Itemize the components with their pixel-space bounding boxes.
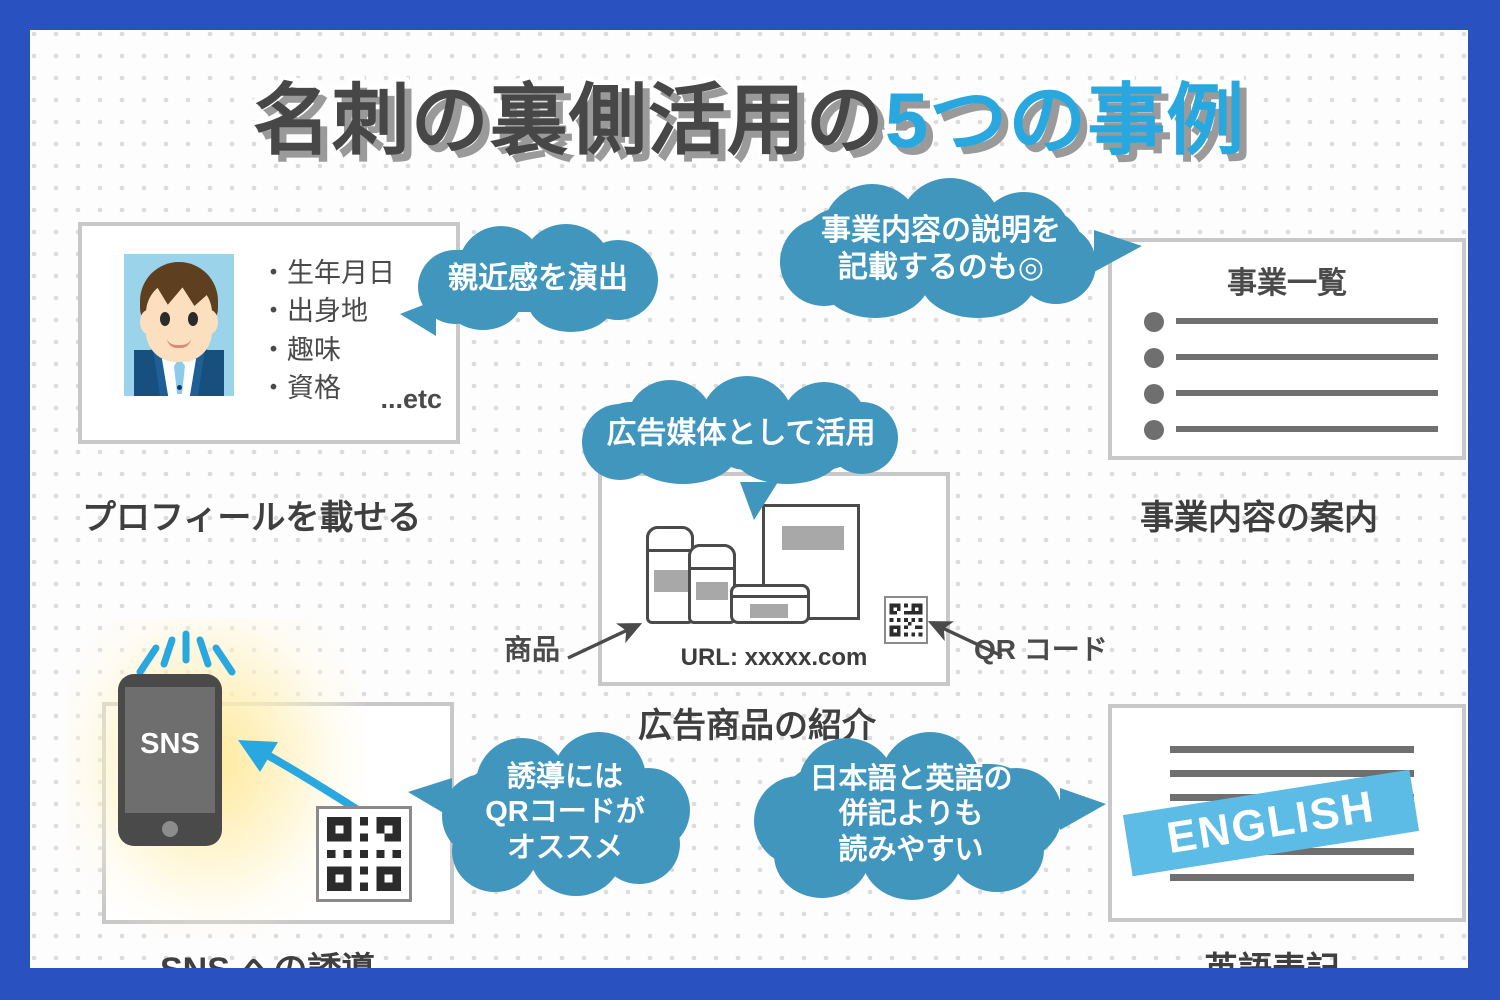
list-item: 生年月日 <box>260 254 395 292</box>
bullet-dot-icon <box>1144 384 1164 404</box>
phone-sns-label: SNS <box>118 728 222 761</box>
bubble-english-line: 併記よりも <box>839 797 983 832</box>
bubble-english-line: 読みやすい <box>838 833 983 868</box>
page-title-dark: 名刺の裏側活用の <box>253 76 885 164</box>
infographic-canvas: 名刺の裏側活用の5つの事例 生年月日 出身 <box>30 30 1468 968</box>
list-item: 出身地 <box>260 292 395 330</box>
bubble-sns: 誘導には QRコードが オススメ <box>434 730 696 896</box>
bubble-business-line: 事業内容の説明を <box>821 213 1061 250</box>
card-label-sns: SNS への誘導 <box>160 942 375 968</box>
card-label-profile: プロフィールを載せる <box>82 490 421 539</box>
bubble-profile: 親近感を演出 <box>416 224 660 334</box>
bubble-sns-line: オススメ <box>507 831 623 866</box>
bubble-english-line: 日本語と英語の <box>809 762 1012 797</box>
smartphone-icon: SNS <box>118 674 222 846</box>
outer-blue-frame: 名刺の裏側活用の5つの事例 生年月日 出身 <box>0 0 1500 1000</box>
card-label-business: 事業内容の案内 <box>1140 490 1378 539</box>
bubble-business: 事業内容の説明を 記載するのも◎ <box>780 178 1102 322</box>
business-list-heading: 事業一覧 <box>1112 258 1462 302</box>
bubble-sns-line: 誘導には <box>507 760 623 795</box>
bubble-ad-line: 広告媒体として活用 <box>606 416 875 453</box>
bullet-dot-icon <box>1144 348 1164 368</box>
bullet-dot-icon <box>1144 420 1164 440</box>
page-title: 名刺の裏側活用の5つの事例 <box>30 58 1468 170</box>
bubble-business-line: 記載するのも◎ <box>838 250 1044 287</box>
profile-item-list: 生年月日 出身地 趣味 資格 <box>260 254 395 407</box>
bubble-ad: 広告媒体として活用 <box>582 376 900 492</box>
card-business: 事業一覧 <box>1108 238 1466 460</box>
card-label-english: 英語表記 <box>1204 942 1340 968</box>
bubble-profile-line: 親近感を演出 <box>448 261 628 298</box>
table-row <box>1144 310 1438 332</box>
table-row <box>1144 346 1438 368</box>
qr-code-icon <box>316 806 412 902</box>
table-row <box>1144 382 1438 404</box>
phone-home-button <box>162 821 178 837</box>
profile-etc-text: ...etc <box>380 384 442 415</box>
annotation-arrows <box>490 590 1150 680</box>
table-row <box>1144 418 1438 440</box>
businessman-avatar-icon <box>124 254 234 396</box>
bubble-english: 日本語と英語の 併記よりも 読みやすい <box>754 730 1068 900</box>
list-item: 趣味 <box>260 331 395 369</box>
page-title-accent: 5つの事例 <box>885 76 1245 164</box>
bullet-dot-icon <box>1144 312 1164 332</box>
bubble-sns-line: QRコードが <box>485 795 645 830</box>
list-item: 資格 <box>260 369 395 407</box>
